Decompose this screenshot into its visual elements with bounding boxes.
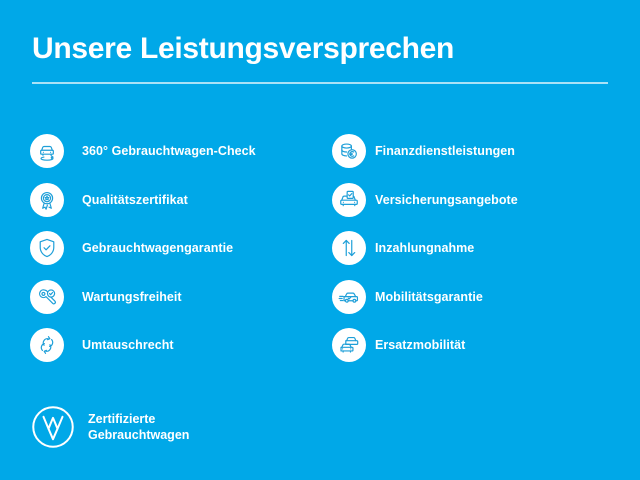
car-clipboard-icon — [332, 183, 366, 217]
benefit-item-mobility-guarantee[interactable]: Mobilitätsgarantie — [332, 273, 622, 322]
benefit-item-360-check[interactable]: 360° Gebrauchtwagen-Check — [30, 127, 330, 176]
award-rosette-icon — [30, 183, 64, 217]
benefit-item-insurance[interactable]: Versicherungsangebote — [332, 176, 622, 225]
benefit-label: Inzahlungnahme — [375, 240, 474, 256]
benefits-grid: 360° Gebrauchtwagen-Check Qualitätszerti… — [0, 127, 640, 370]
benefit-label: 360° Gebrauchtwagen-Check — [82, 143, 256, 159]
brand-text: Zertifizierte Gebrauchtwagen — [88, 411, 189, 443]
benefit-item-quality-certificate[interactable]: Qualitätszertifikat — [30, 176, 330, 225]
benefit-label: Versicherungsangebote — [375, 192, 518, 208]
benefit-label: Ersatzmobilität — [375, 337, 465, 353]
brand-lockup: Zertifizierte Gebrauchtwagen — [30, 404, 189, 450]
promo-poster: Unsere Leistungsversprechen 360° Gebrauc — [0, 0, 640, 480]
benefit-label: Wartungsfreiheit — [82, 289, 182, 305]
title-divider — [32, 82, 608, 84]
wrench-check-icon — [30, 280, 64, 314]
benefit-item-replacement-mobility[interactable]: Ersatzmobilität — [332, 321, 622, 370]
benefits-column-left: 360° Gebrauchtwagen-Check Qualitätszerti… — [30, 127, 330, 370]
benefit-label: Qualitätszertifikat — [82, 192, 188, 208]
header: Unsere Leistungsversprechen — [32, 30, 608, 84]
benefit-item-warranty[interactable]: Gebrauchtwagengarantie — [30, 224, 330, 273]
car-360-check-icon — [30, 134, 64, 168]
two-cars-icon — [332, 328, 366, 362]
benefit-item-exchange-right[interactable]: Umtauschrecht — [30, 321, 330, 370]
benefit-label: Mobilitätsgarantie — [375, 289, 483, 305]
benefit-item-maintenance[interactable]: Wartungsfreiheit — [30, 273, 330, 322]
benefit-label: Umtauschrecht — [82, 337, 174, 353]
coins-euro-icon — [332, 134, 366, 168]
brand-text-line1: Zertifizierte — [88, 411, 189, 427]
vw-roundel-logo — [30, 404, 76, 450]
up-down-arrows-icon — [332, 231, 366, 265]
benefit-label: Gebrauchtwagengarantie — [82, 240, 233, 256]
benefits-column-right: Finanzdienstleistungen Versicherungsange… — [332, 127, 622, 370]
shield-check-icon — [30, 231, 64, 265]
exchange-arrows-icon — [30, 328, 64, 362]
moving-car-icon — [332, 280, 366, 314]
benefit-item-trade-in[interactable]: Inzahlungnahme — [332, 224, 622, 273]
benefit-item-financial-services[interactable]: Finanzdienstleistungen — [332, 127, 622, 176]
benefit-label: Finanzdienstleistungen — [375, 143, 515, 159]
brand-text-line2: Gebrauchtwagen — [88, 427, 189, 443]
page-title: Unsere Leistungsversprechen — [32, 30, 608, 68]
